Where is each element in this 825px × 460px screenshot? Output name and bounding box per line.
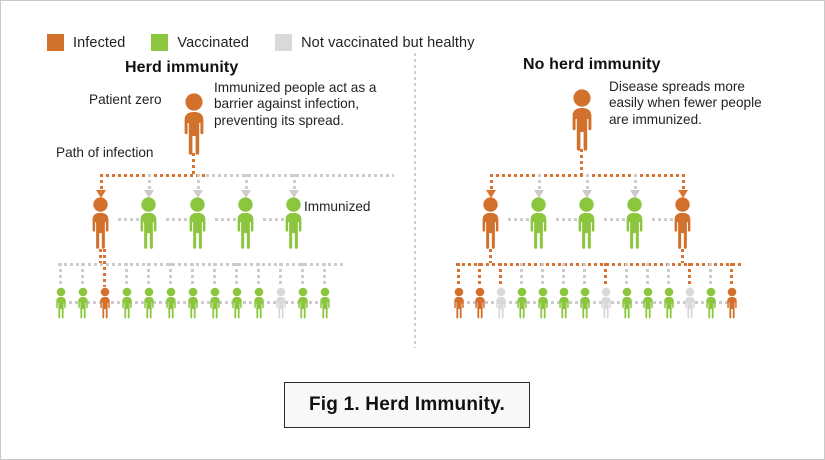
- person-right-r3-14: [724, 287, 740, 319]
- square-swatch-infected: [47, 34, 64, 51]
- person-left-r3-3: [97, 287, 113, 319]
- person-patient-zero-right: [566, 89, 598, 151]
- person-left-r3-11: [273, 287, 289, 319]
- person-right-r3-4: [514, 287, 530, 319]
- person-right-r3-13: [703, 287, 719, 319]
- person-right-r3-12: [682, 287, 698, 319]
- drop-left-r3-7: [191, 263, 194, 287]
- person-left-r3-2: [75, 287, 91, 319]
- drop-left-r3-4: [125, 263, 128, 287]
- person-left-r3-12: [295, 287, 311, 319]
- drop-left-r3-10: [257, 263, 260, 287]
- person-right-r2-1: [477, 197, 504, 249]
- drop-right-r3-3: [499, 263, 502, 287]
- person-left-r3-1: [53, 287, 69, 319]
- person-right-r2-5: [669, 197, 696, 249]
- person-left-r3-8: [207, 287, 223, 319]
- figure-caption-text: Fig 1. Herd Immunity.: [309, 394, 505, 416]
- person-right-r3-9: [619, 287, 635, 319]
- drop-right-r3-8: [604, 263, 607, 287]
- person-left-r3-6: [163, 287, 179, 319]
- person-patient-zero-left: [178, 93, 210, 155]
- panel-note-herd-immunity: Immunized people act as a barrier agains…: [214, 80, 382, 129]
- legend-label-infected: Infected: [73, 35, 125, 51]
- legend: Infected Vaccinated Not vaccinated but h…: [47, 34, 501, 51]
- legend-item-vaccinated: Vaccinated: [151, 34, 249, 51]
- path-patientzero-drop-right: [580, 149, 583, 175]
- person-right-r3-7: [577, 287, 593, 319]
- drop-right-r3-12: [688, 263, 691, 287]
- drop-right-r3-5: [541, 263, 544, 287]
- drop-left-r3-2: [81, 263, 84, 287]
- drop-left-r3-13: [323, 263, 326, 287]
- label-immunized: Immunized: [304, 199, 370, 214]
- person-left-r2-2: [135, 197, 162, 249]
- person-left-r3-10: [251, 287, 267, 319]
- person-left-r3-4: [119, 287, 135, 319]
- drop-right-r3-2: [478, 263, 481, 287]
- legend-item-healthy: Not vaccinated but healthy: [275, 34, 475, 51]
- person-right-r3-1: [451, 287, 467, 319]
- path-patientzero-drop-left: [192, 153, 195, 175]
- drop-right-r3-14: [730, 263, 733, 287]
- person-right-r3-5: [535, 287, 551, 319]
- person-right-r3-2: [472, 287, 488, 319]
- person-right-r3-10: [640, 287, 656, 319]
- drop-right-r3-10: [646, 263, 649, 287]
- drop-right-r3-7: [583, 263, 586, 287]
- square-swatch-healthy: [275, 34, 292, 51]
- person-left-r2-5: [280, 197, 307, 249]
- path-r2-down-right-b: [681, 249, 684, 263]
- drop-left-r3-6: [169, 263, 172, 287]
- person-right-r3-3: [493, 287, 509, 319]
- person-right-r2-2: [525, 197, 552, 249]
- panel-note-no-herd-immunity: Disease spreads more easily when fewer p…: [609, 79, 779, 128]
- drop-left-r3-1: [59, 263, 62, 287]
- panel-title-no-herd-immunity: No herd immunity: [523, 56, 661, 74]
- person-right-r2-3: [573, 197, 600, 249]
- person-right-r2-4: [621, 197, 648, 249]
- person-left-r2-3: [184, 197, 211, 249]
- drop-left-r3-12: [301, 263, 304, 287]
- figure-frame: Infected Vaccinated Not vaccinated but h…: [0, 0, 825, 460]
- figure-caption-box: Fig 1. Herd Immunity.: [284, 382, 530, 428]
- person-left-r3-5: [141, 287, 157, 319]
- person-left-r3-13: [317, 287, 333, 319]
- person-right-r3-8: [598, 287, 614, 319]
- legend-label-healthy: Not vaccinated but healthy: [301, 35, 475, 51]
- person-left-r3-7: [185, 287, 201, 319]
- drop-right-r3-4: [520, 263, 523, 287]
- path-bus-grey-left: [206, 174, 394, 177]
- legend-label-vaccinated: Vaccinated: [177, 35, 249, 51]
- drop-right-r3-13: [709, 263, 712, 287]
- drop-right-r3-1: [457, 263, 460, 287]
- label-patient-zero: Patient zero: [89, 92, 162, 107]
- path-r2-down-left: [99, 249, 102, 263]
- square-swatch-vaccinated: [151, 34, 168, 51]
- drop-right-r3-6: [562, 263, 565, 287]
- drop-left-r3-3: [103, 249, 106, 287]
- person-left-r2-1: [87, 197, 114, 249]
- drop-right-r3-11: [667, 263, 670, 287]
- person-left-r2-4: [232, 197, 259, 249]
- path-bus-orange-left: [100, 174, 208, 177]
- drop-left-r3-11: [279, 263, 282, 287]
- label-path-of-infection: Path of infection: [56, 145, 154, 160]
- person-right-r3-11: [661, 287, 677, 319]
- person-right-r3-6: [556, 287, 572, 319]
- drop-left-r3-8: [213, 263, 216, 287]
- panel-divider: [414, 53, 416, 348]
- person-left-r3-9: [229, 287, 245, 319]
- legend-item-infected: Infected: [47, 34, 125, 51]
- drop-left-r3-5: [147, 263, 150, 287]
- drop-left-r3-9: [235, 263, 238, 287]
- panel-title-herd-immunity: Herd immunity: [125, 59, 238, 77]
- path-r2-down-right-a: [489, 249, 492, 263]
- drop-right-r3-9: [625, 263, 628, 287]
